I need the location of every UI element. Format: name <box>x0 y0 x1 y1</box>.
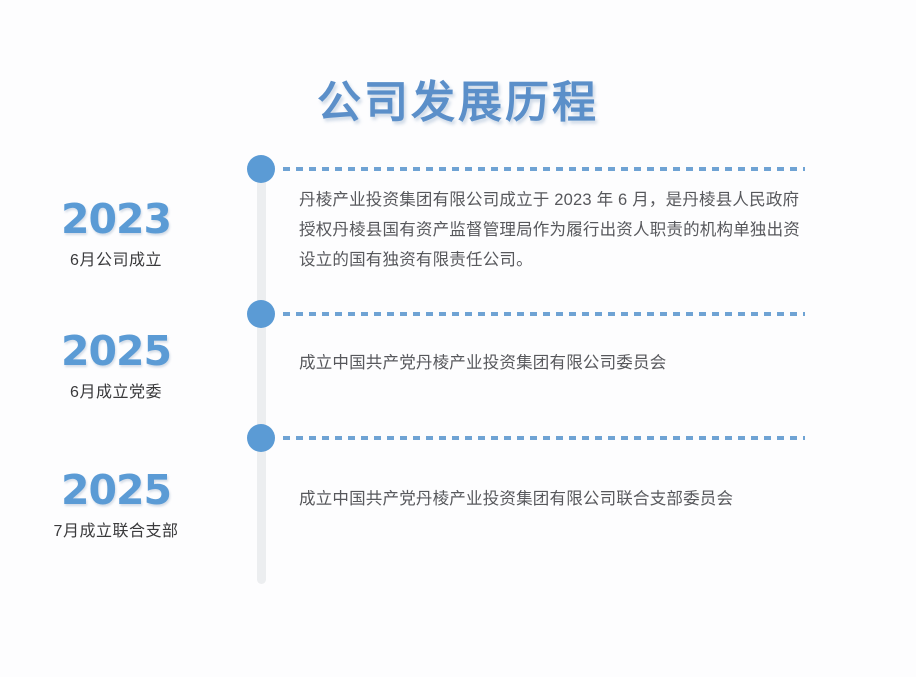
timeline-dot-icon <box>247 300 275 328</box>
timeline-dotted-connector <box>283 312 805 316</box>
timeline-description: 成立中国共产党丹棱产业投资集团有限公司委员会 <box>299 348 859 378</box>
timeline-description: 成立中国共产党丹棱产业投资集团有限公司联合支部委员会 <box>299 484 859 514</box>
page-title: 公司发展历程 <box>0 66 916 130</box>
timeline-dot-icon <box>247 155 275 183</box>
timeline-caption: 6月成立党委 <box>0 382 232 404</box>
timeline-spine <box>257 168 266 584</box>
timeline-caption: 7月成立联合支部 <box>0 521 232 543</box>
timeline-dotted-connector <box>283 167 805 171</box>
timeline-dotted-connector <box>283 436 805 440</box>
timeline-label-group: 2025 7月成立联合支部 <box>0 469 232 543</box>
timeline-year: 2023 <box>0 198 232 241</box>
timeline-label-group: 2023 6月公司成立 <box>0 198 232 272</box>
timeline-caption: 6月公司成立 <box>0 250 232 272</box>
timeline-label-group: 2025 6月成立党委 <box>0 330 232 404</box>
timeline-year: 2025 <box>0 469 232 512</box>
timeline-slide: 公司发展历程 2023 6月公司成立 丹棱产业投资集团有限公司成立于 2023 … <box>0 0 916 677</box>
timeline-dot-icon <box>247 424 275 452</box>
timeline-year: 2025 <box>0 330 232 373</box>
timeline-description: 丹棱产业投资集团有限公司成立于 2023 年 6 月，是丹棱县人民政府授权丹棱县… <box>299 185 815 275</box>
